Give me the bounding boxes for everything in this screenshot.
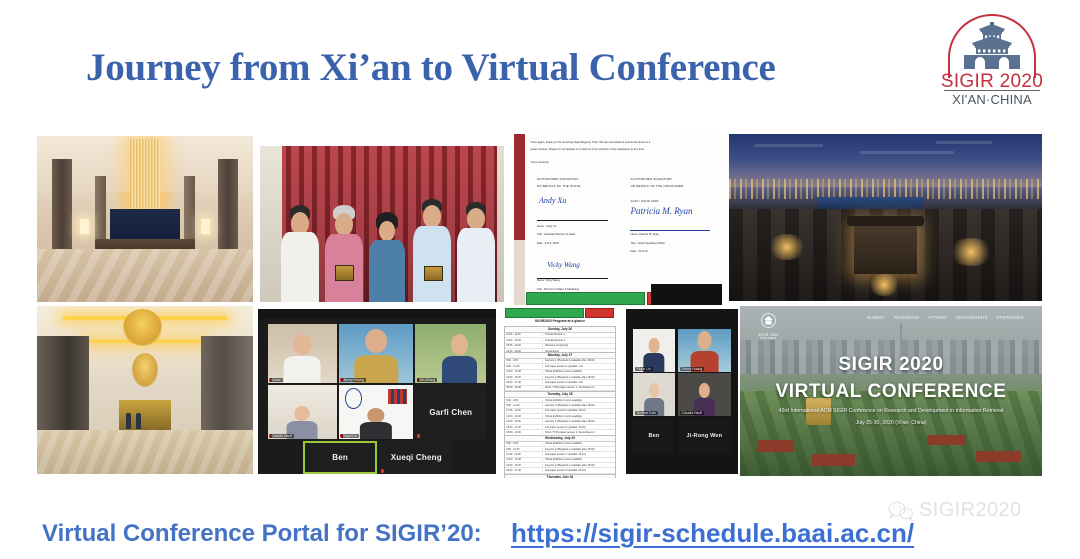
contract-screenshare-banner	[526, 292, 644, 305]
schedule-row-item: Keynote 4 (Playback is available after 1…	[543, 420, 615, 423]
schedule-row-item: Tutorial Session 2	[543, 339, 615, 342]
award-person-1	[280, 205, 321, 302]
lobby-lamp-right	[201, 219, 210, 234]
schedule-row-time: 15:30 - 17:30	[505, 469, 543, 472]
wechat-icon	[888, 501, 914, 521]
schedule-row-item: Welcome & Opening	[543, 344, 615, 347]
city-river	[817, 197, 923, 209]
website-nav: SUBMIT PROGRAM ATTEND ORGANIZERS SPONSOR…	[867, 315, 1024, 320]
schedule-row-item: Full paper session 8 (parallel: 22-24)	[543, 469, 615, 472]
footer-label: Virtual Conference Portal for SIGIR’20:	[42, 520, 482, 548]
schedule-row-time: 12:00 - 14:00	[505, 370, 543, 373]
zoom-a-name-6: Garfi Chen	[415, 385, 486, 439]
page-title: Journey from Xi’an to Virtual Conference	[86, 45, 776, 90]
schedule-row-time: 11:00 - 11:30	[505, 333, 543, 336]
zoom-a-name-5: Yiqun Liu	[341, 434, 359, 438]
schedule-row-item: Virtual Exhibition rooms available	[543, 415, 615, 418]
city-distant-skyline	[729, 179, 1042, 199]
schedule-row-time: 12:00 - 14:00	[505, 415, 543, 418]
schedule-row-time: 18:00 - 19:00	[505, 386, 543, 389]
schedule-row-item: Tutorial Session 1	[543, 333, 615, 336]
contract-right-name: Name: Patricia M. Ryan	[630, 233, 658, 237]
schedule-row-item: Short / TOIS paper session 2, Social Eve…	[543, 431, 615, 434]
zoom-a-tile-1[interactable]: Grace	[268, 324, 337, 383]
website-nav-item-attend[interactable]: ATTEND	[928, 315, 947, 320]
zoom-a-tile-5[interactable]: Yiqun Liu	[339, 385, 413, 439]
contract-right-heading-1: AUTHORISED SIGNATORY	[630, 177, 672, 182]
schedule-row-item: Full paper session 7 (parallel: 19-21)	[543, 453, 615, 456]
website-subtitle-line1: 43rd International ACM SIGIR Conference …	[740, 408, 1042, 414]
contract-signature-line-3	[630, 230, 709, 231]
contract-right-date: Date : 11-5-19	[630, 250, 647, 254]
zoom-a-name-3: Min Zhang	[417, 378, 437, 382]
contract-intro-line-2: great success. Please do not hesitate to…	[531, 148, 645, 152]
ballroom-wall-left	[37, 336, 89, 440]
website-headline-line1: SIGIR 2020	[740, 354, 1042, 376]
website-nav-item-organizers[interactable]: ORGANIZERS	[955, 315, 987, 320]
photo-zoom-gallery-b: Yiqun Liu Jimmy Huang Norbert Fuhr	[626, 309, 738, 474]
schedule-row-time: 18:00 - 19:00	[505, 431, 543, 434]
zoom-a-seal-icon	[345, 388, 362, 409]
photo-program-schedule: SIGIR2020 Program at a glance Sunday, Ju…	[498, 306, 622, 478]
photo-signed-contract: Once again, thank you for choosing Hyatt…	[514, 134, 722, 305]
schedule-row-item: Virtual Exhibition rooms available	[543, 442, 615, 445]
schedule-row-item: Short / TOIS paper session 1, Social Eve…	[543, 386, 615, 389]
schedule-row-time: 8:00 - 9:00	[505, 399, 543, 402]
zoom-a-name-7: Ben	[303, 441, 377, 474]
photo-xian-night-skyline	[729, 134, 1042, 301]
website-headline-line2: VIRTUAL CONFERENCE	[740, 381, 1042, 403]
website-park-greenery	[740, 391, 1042, 476]
lobby-column-right	[218, 159, 237, 262]
zoom-b-name-1: Yiqun Liu	[635, 367, 653, 371]
website-pagoda-logo-icon	[760, 313, 777, 328]
city-glow-1	[767, 234, 807, 260]
schedule-day-group: Wednesday, July 298:00 - 9:00Virtual Exh…	[504, 435, 616, 479]
zoom-a-tile-7-active-speaker[interactable]: Ben	[303, 441, 377, 474]
schedule-row-item: Full paper session 4 (parallel: 10-12)	[543, 409, 615, 412]
schedule-row-item: Keynote 2 (Playback is available after 1…	[543, 376, 615, 379]
ballroom-person-1	[126, 413, 131, 429]
schedule-row-time: 11:30 - 12:00	[505, 453, 543, 456]
schedule-day-header: Thursday, July 30	[505, 475, 615, 478]
conference-portal-link[interactable]: https://sigir-schedule.baai.ac.cn/	[511, 518, 914, 549]
contract-signature-vicky-wang: Vicky Wang	[547, 261, 579, 269]
schedule-row-time: 15:45 - 16:30	[505, 344, 543, 347]
zoom-b-tile-4[interactable]: Claudia Hauff	[678, 373, 732, 416]
city-cloud-1	[754, 144, 823, 147]
schedule-row-time: 9:00 - 11:30	[505, 448, 543, 451]
ballroom-wall-right	[201, 336, 253, 440]
logo-subtitle: XI'AN·CHINA	[940, 92, 1044, 107]
contract-left-edge	[514, 134, 525, 305]
zoom-a-banner-logo	[388, 389, 407, 404]
contract-intro-line-1: Once again, thank you for choosing Hyatt…	[531, 141, 651, 145]
zoom-b-tile-1[interactable]: Yiqun Liu	[633, 329, 676, 372]
award-person-5	[455, 202, 496, 302]
logo-divider	[944, 90, 1040, 91]
website-nav-item-submit[interactable]: SUBMIT	[867, 315, 886, 320]
zoom-a-mic-icon-6	[417, 434, 420, 438]
zoom-a-tile-8[interactable]: Xueqi Cheng	[379, 441, 453, 474]
contract-signature-andy-xu: Andy Xu	[539, 196, 566, 205]
lobby-window	[110, 209, 179, 239]
contract-left-date: Date : 8 Oct, 2019	[537, 242, 559, 246]
presentation-slide: Journey from Xi’an to Virtual Conference	[0, 0, 1080, 559]
schedule-row-item: Keynote 1 (Playback is available after 1…	[543, 359, 615, 362]
zoom-b-tile-3[interactable]: Norbert Fuhr	[633, 373, 676, 416]
xian-city-gate-tower-icon	[959, 21, 1025, 69]
lobby-marble-floor	[37, 249, 253, 302]
schedule-title: SIGIR2020 Program at a glance	[498, 319, 622, 323]
schedule-row-time: 12:00 - 14:00	[505, 458, 543, 461]
city-cloud-2	[860, 151, 954, 154]
contract-left-title: Title : Assistant Director of Sales	[537, 233, 576, 237]
contract-signature-patricia-ryan: Patricia M. Ryan	[630, 206, 692, 216]
zoom-b-name-5: Ben	[633, 418, 676, 454]
schedule-row-item: Keynote 6 (Playback is available after 1…	[543, 464, 615, 467]
website-tv-tower	[900, 323, 902, 357]
zoom-b-name-4: Claudia Hauff	[680, 411, 704, 415]
award-person-4	[411, 199, 452, 302]
zoom-b-name-2: Jimmy Huang	[680, 367, 705, 371]
contract-left-name-2: Name: Vicky Wang	[537, 279, 560, 283]
zoom-b-name-3: Norbert Fuhr	[635, 411, 658, 415]
contract-closing: Yours sincerely	[531, 161, 549, 165]
zoom-a-name-1: Grace	[270, 378, 283, 382]
schedule-stop-share-button[interactable]	[585, 308, 614, 318]
contract-left-heading-2: ON BEHALF OF THE HOTEL	[537, 184, 581, 189]
photo-hotel-lobby	[37, 136, 253, 302]
photo-hotel-ballroom-corridor	[37, 306, 253, 474]
schedule-row-item: Virtual Exhibition rooms available	[543, 399, 615, 402]
schedule-row-time: 11:30 - 12:00	[505, 409, 543, 412]
website-subtitle-line2: July 25-30, 2020 (Xi'an, China)	[740, 420, 1042, 426]
contract-left-name: Name : Andy Xu	[537, 225, 556, 229]
schedule-row-time: 14:00 - 15:30	[505, 420, 543, 423]
contract-right-heading-2: ON BEHALF OF THE ORGANIZER	[630, 184, 683, 189]
zoom-a-name-4: Claudia Hauff	[270, 434, 294, 438]
schedule-day-group: Thursday, July 308:00 - 9:00Virtual Exhi…	[504, 474, 616, 478]
website-nav-item-program[interactable]: PROGRAM	[894, 315, 919, 320]
zoom-a-name-8: Xueqi Cheng	[379, 441, 453, 474]
website-logo-line2: XI'AN CHINA	[755, 337, 781, 340]
award-wall-right	[497, 146, 504, 302]
sigir-logo: SIGIR 2020 XI'AN·CHINA	[940, 14, 1044, 106]
zoom-b-tile-6[interactable]: Ji-Rong Wen	[678, 418, 732, 454]
website-roof-1	[758, 440, 794, 452]
zoom-a-top-bar	[258, 309, 496, 319]
website-roof-2	[812, 454, 854, 466]
zoom-a-tile-6[interactable]: Garfi Chen	[415, 385, 486, 439]
zoom-a-tile-2[interactable]: Jimmy Huang	[339, 324, 413, 383]
schedule-row-time: 14:00 - 15:30	[505, 376, 543, 379]
lobby-lamp-left	[80, 219, 89, 234]
zoom-a-mic-icon-8	[381, 469, 384, 473]
website-roof-4	[976, 451, 1021, 463]
ballroom-chandelier-rear-icon	[132, 353, 158, 387]
schedule-row-time: 8:00 - 9:00	[505, 442, 543, 445]
ballroom-carpet-floor	[37, 430, 253, 474]
ballroom-person-2	[136, 413, 141, 429]
zoom-b-name-6: Ji-Rong Wen	[678, 418, 732, 454]
contract-right-title: Title : Chief Operating Officer	[630, 242, 665, 246]
award-person-2	[323, 205, 364, 302]
schedule-row-time: 14:00 - 15:30	[505, 339, 543, 342]
schedule-row-item: Virtual Exhibition rooms available	[543, 458, 615, 461]
website-roof-3	[927, 435, 966, 445]
zoom-b-tile-2[interactable]: Jimmy Huang	[678, 329, 732, 372]
zoom-a-name-2: Jimmy Huang	[341, 378, 366, 382]
city-main-hall	[854, 224, 917, 274]
city-glow-3	[867, 274, 901, 296]
schedule-row-time: 14:00 - 15:30	[505, 464, 543, 467]
photo-conference-website: SIGIR 2020 XI'AN CHINA SUBMIT PROGRAM AT…	[740, 306, 1042, 476]
schedule-row-item: Full paper session 1 (parallel: 1-3)	[543, 365, 615, 368]
schedule-row-item: Full paper session 2 (parallel: 4-6)	[543, 381, 615, 384]
schedule-row-time: 9:00 - 11:30	[505, 404, 543, 407]
lobby-chandelier-icon	[130, 139, 160, 212]
contract-signature-line-1	[537, 220, 608, 221]
city-cloud-3	[936, 141, 992, 144]
zoom-a-tile-4[interactable]: Claudia Hauff	[268, 385, 337, 439]
schedule-row-time: 9:00 - 11:30	[505, 365, 543, 368]
schedule-row-time: 15:30 - 17:30	[505, 426, 543, 429]
zoom-b-tile-5[interactable]: Ben	[633, 418, 676, 454]
zoom-a-tile-3[interactable]: Min Zhang	[415, 324, 486, 383]
website-nav-item-sponsors[interactable]: SPONSORS	[996, 315, 1024, 320]
photo-zoom-gallery-a: Grace Jimmy Huang Min Zhang	[258, 309, 496, 474]
contract-left-heading-1: AUTHORISED SIGNATORY	[537, 177, 579, 182]
schedule-row-item: Full paper session 5 (parallel: 13-15)	[543, 426, 615, 429]
schedule-row-time: 15:30 - 17:30	[505, 381, 543, 384]
schedule-row-item: Keynote 3 (Playback is available after 1…	[543, 404, 615, 407]
website-logo[interactable]: SIGIR 2020 XI'AN CHINA	[755, 313, 781, 339]
schedule-row-item: Keynote 5 (Playback is available after 1…	[543, 448, 615, 451]
schedule-row-time: 8:00 - 9:00	[505, 359, 543, 362]
contract-right-org: ACM / SIGIR 2020	[630, 199, 658, 204]
watermark: SIGIR2020	[888, 499, 1022, 522]
schedule-secure-meeting-banner	[505, 308, 584, 318]
lobby-column-left	[52, 159, 71, 262]
watermark-text: SIGIR2020	[919, 499, 1022, 522]
schedule-row-item: Virtual Exhibition rooms available	[543, 370, 615, 373]
photo-award-ceremony	[260, 146, 504, 302]
contract-zoom-panel-edge	[651, 284, 722, 305]
award-person-3	[367, 212, 406, 302]
city-glow-2	[948, 238, 994, 266]
